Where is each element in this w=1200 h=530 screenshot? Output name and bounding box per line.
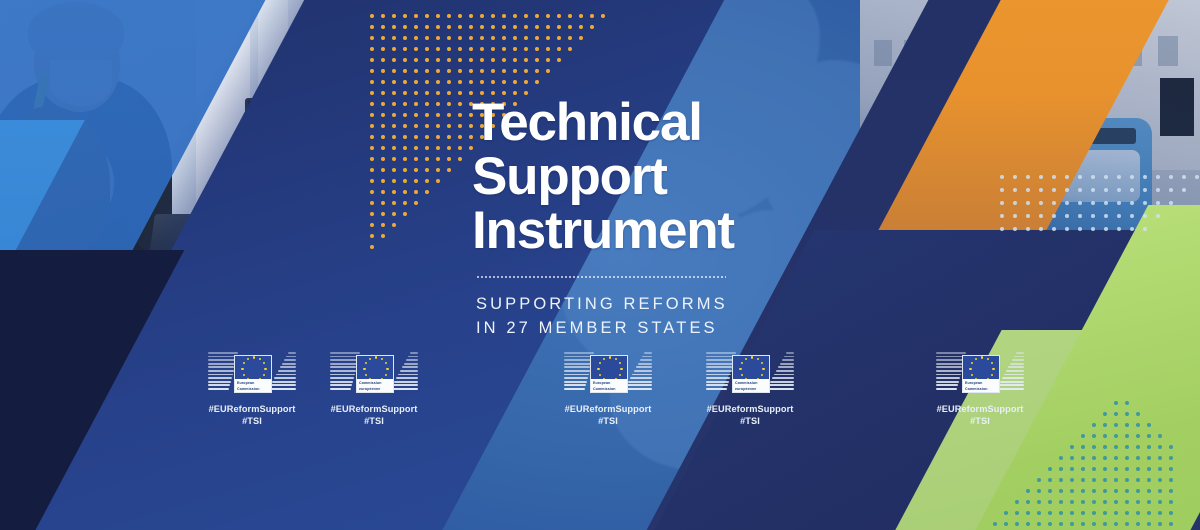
decorative-dot xyxy=(1158,456,1162,460)
decorative-dot xyxy=(381,113,385,117)
sail-line xyxy=(564,381,587,383)
decorative-dot xyxy=(1015,522,1019,526)
decorative-dot xyxy=(403,146,407,150)
ec-logo-lockup-1[interactable]: EuropeanCommission#EUReformSupport#TSI xyxy=(187,352,317,427)
sail-line xyxy=(706,374,731,376)
eu-star xyxy=(263,374,265,376)
decorative-dot xyxy=(535,80,539,84)
eu-star xyxy=(247,358,249,360)
sail-line xyxy=(564,352,594,354)
sail-line xyxy=(330,370,356,372)
sail-line xyxy=(770,381,794,383)
ec-wordmark-line-2: européenne xyxy=(359,386,391,392)
decorative-dot xyxy=(1182,188,1186,192)
decorative-dot xyxy=(491,58,495,62)
decorative-dot xyxy=(491,47,495,51)
decorative-dot xyxy=(458,69,462,73)
decorative-dot xyxy=(513,58,517,62)
hashtag-primary: #EUReformSupport xyxy=(543,403,673,415)
hashtag-block: #EUReformSupport#TSI xyxy=(309,403,439,427)
decorative-dot xyxy=(370,212,374,216)
decorative-dot xyxy=(1039,175,1043,179)
decorative-dot xyxy=(1136,423,1140,427)
sail-line xyxy=(778,366,794,368)
sail-line xyxy=(774,374,794,376)
sail-line xyxy=(330,356,359,358)
decorative-dot xyxy=(1158,522,1162,526)
decorative-dot xyxy=(425,91,429,95)
decorative-dot xyxy=(1136,478,1140,482)
decorative-dot xyxy=(1114,522,1118,526)
decorative-dot xyxy=(425,14,429,18)
decorative-dot xyxy=(568,14,572,18)
sail-line xyxy=(706,384,728,386)
decorative-dot xyxy=(1026,522,1030,526)
sail-line xyxy=(208,381,231,383)
decorative-dot xyxy=(381,201,385,205)
eu-star xyxy=(620,368,622,370)
decorative-dot xyxy=(546,47,550,51)
sail-line xyxy=(330,359,358,361)
decorative-dot xyxy=(370,80,374,84)
decorative-dot xyxy=(381,91,385,95)
decorative-dot xyxy=(458,36,462,40)
decorative-dot xyxy=(1052,175,1056,179)
sail-line xyxy=(636,366,652,368)
decorative-dot xyxy=(579,14,583,18)
decorative-dot xyxy=(1136,434,1140,438)
decorative-dot xyxy=(436,69,440,73)
decorative-dot xyxy=(480,58,484,62)
sail-line xyxy=(564,384,586,386)
sail-line xyxy=(706,381,729,383)
hashtag-primary: #EUReformSupport xyxy=(309,403,439,415)
eu-star xyxy=(757,358,759,360)
decorative-dot xyxy=(1059,500,1063,504)
decorative-dot xyxy=(1147,467,1151,471)
sail-line xyxy=(330,384,352,386)
decorative-dot xyxy=(524,36,528,40)
decorative-dot xyxy=(447,157,451,161)
sail-line xyxy=(706,370,732,372)
decorative-dot xyxy=(502,58,506,62)
decorative-dot xyxy=(392,157,396,161)
decorative-dot xyxy=(425,58,429,62)
sail-line xyxy=(330,381,353,383)
decorative-dot xyxy=(403,69,407,73)
decorative-dot xyxy=(469,36,473,40)
sail-line xyxy=(208,374,233,376)
decorative-dot xyxy=(1013,227,1017,231)
sail-line xyxy=(394,381,418,383)
decorative-dot xyxy=(414,25,418,29)
decorative-dot xyxy=(480,25,484,29)
eu-star xyxy=(615,358,617,360)
decorative-dot xyxy=(370,146,374,150)
decorative-dot xyxy=(447,113,451,117)
decorative-dot xyxy=(381,69,385,73)
decorative-dot xyxy=(1081,511,1085,515)
decorative-dot xyxy=(436,168,440,172)
decorative-dot xyxy=(425,25,429,29)
decorative-dot xyxy=(480,80,484,84)
sail-line xyxy=(706,356,735,358)
decorative-dot xyxy=(436,47,440,51)
eu-star xyxy=(619,374,621,376)
decorative-dot xyxy=(546,14,550,18)
decorative-dot xyxy=(1092,467,1096,471)
eu-star xyxy=(739,368,741,370)
decorative-dot xyxy=(1048,467,1052,471)
eu-star xyxy=(597,368,599,370)
decorative-dot xyxy=(436,25,440,29)
decorative-dot xyxy=(370,91,374,95)
decorative-dot xyxy=(1037,500,1041,504)
decorative-dot xyxy=(381,179,385,183)
decorative-dot xyxy=(1070,467,1074,471)
decorative-dot xyxy=(1081,522,1085,526)
decorative-dot xyxy=(1114,445,1118,449)
sail-line xyxy=(564,370,590,372)
decorative-dot xyxy=(1136,445,1140,449)
eu-star xyxy=(971,362,973,364)
decorative-dot xyxy=(414,36,418,40)
decorative-dot xyxy=(513,36,517,40)
decorative-dot xyxy=(1081,434,1085,438)
decorative-dot xyxy=(1015,511,1019,515)
sail-line xyxy=(644,352,652,354)
decorative-dot xyxy=(1092,478,1096,482)
decorative-dot xyxy=(447,36,451,40)
decorative-dot xyxy=(1125,423,1129,427)
decorative-dot xyxy=(1104,227,1108,231)
decorative-dot xyxy=(392,58,396,62)
decorative-dot xyxy=(1125,456,1129,460)
sail-line xyxy=(208,359,236,361)
decorative-dot xyxy=(425,146,429,150)
decorative-dot xyxy=(403,179,407,183)
decorative-dot xyxy=(1092,434,1096,438)
decorative-dot xyxy=(425,124,429,128)
decorative-dot xyxy=(1104,214,1108,218)
decorative-dot xyxy=(1125,522,1129,526)
sail-line xyxy=(398,374,418,376)
sail-line xyxy=(1006,370,1024,372)
decorative-dot xyxy=(1078,214,1082,218)
decorative-dot xyxy=(1114,467,1118,471)
decorative-dot xyxy=(458,58,462,62)
sail-line xyxy=(1008,366,1024,368)
decorative-dot xyxy=(370,223,374,227)
hashtag-secondary: #TSI xyxy=(685,415,815,427)
decorative-dot xyxy=(414,91,418,95)
decorative-dot xyxy=(1000,227,1004,231)
decorative-dot xyxy=(370,14,374,18)
eu-star xyxy=(751,356,753,358)
decorative-dot xyxy=(1015,500,1019,504)
eu-star xyxy=(619,362,621,364)
decorative-dot xyxy=(458,25,462,29)
sail-line xyxy=(936,374,961,376)
decorative-dot xyxy=(524,80,528,84)
decorative-dot xyxy=(447,14,451,18)
decorative-dot xyxy=(1169,522,1173,526)
sail-line xyxy=(404,363,418,365)
decorative-dot xyxy=(370,201,374,205)
decorative-dot xyxy=(381,47,385,51)
decorative-dot xyxy=(392,212,396,216)
european-commission-logo-icon: EuropeanCommission xyxy=(208,352,296,396)
decorative-dot xyxy=(1026,227,1030,231)
decorative-dot xyxy=(1103,478,1107,482)
decorative-dot xyxy=(535,25,539,29)
sail-line xyxy=(208,352,238,354)
decorative-dot xyxy=(1169,201,1173,205)
sail-line xyxy=(638,363,652,365)
sail-line xyxy=(564,377,588,379)
decorative-dot xyxy=(458,14,462,18)
decorative-dot xyxy=(546,36,550,40)
decorative-dot xyxy=(425,80,429,84)
decorative-dot xyxy=(568,36,572,40)
sail-line xyxy=(776,370,794,372)
sail-line xyxy=(410,352,418,354)
decorative-dot xyxy=(1125,401,1129,405)
decorative-dot xyxy=(370,245,374,249)
eu-star xyxy=(243,362,245,364)
european-commission-logo-icon: EuropeanCommission xyxy=(936,352,1024,396)
decorative-dot xyxy=(458,91,462,95)
decorative-dot xyxy=(392,25,396,29)
decorative-dot xyxy=(403,47,407,51)
decorative-dot xyxy=(1182,175,1186,179)
sail-line xyxy=(1010,363,1024,365)
hashtag-block: #EUReformSupport#TSI xyxy=(685,403,815,427)
decorative-dot xyxy=(1091,227,1095,231)
sail-line xyxy=(396,377,418,379)
decorative-dot xyxy=(1078,201,1082,205)
decorative-dot xyxy=(436,80,440,84)
decorative-dot xyxy=(1125,412,1129,416)
decorative-dot xyxy=(436,113,440,117)
decorative-dot xyxy=(392,223,396,227)
eu-star xyxy=(386,368,388,370)
decorative-dot xyxy=(1169,188,1173,192)
decorative-dot xyxy=(381,157,385,161)
decorative-dot xyxy=(392,146,396,150)
decorative-dot xyxy=(1004,511,1008,515)
decorative-dot xyxy=(1037,511,1041,515)
sail-line xyxy=(936,381,959,383)
decorative-dot xyxy=(1013,175,1017,179)
ec-wordmark-line-2: européenne xyxy=(735,386,767,392)
decorative-dot xyxy=(1026,201,1030,205)
decorative-dot xyxy=(458,124,462,128)
sail-line xyxy=(280,366,296,368)
hashtag-secondary: #TSI xyxy=(915,415,1045,427)
decorative-dot xyxy=(535,36,539,40)
decorative-dot xyxy=(1147,456,1151,460)
subtitle-line-1: SUPPORTING REFORMS xyxy=(476,292,912,316)
decorative-dot xyxy=(458,102,462,106)
decorative-dot xyxy=(1130,188,1134,192)
decorative-dot xyxy=(414,135,418,139)
decorative-dot xyxy=(436,157,440,161)
eu-star xyxy=(741,362,743,364)
decorative-dot xyxy=(414,124,418,128)
sail-line xyxy=(630,377,652,379)
sail-line xyxy=(642,356,652,358)
ec-logo-lockup-4[interactable]: Commissioneuropéenne#EUReformSupport#TSI xyxy=(685,352,815,427)
decorative-dot xyxy=(1070,511,1074,515)
decorative-dot xyxy=(513,14,517,18)
eu-star xyxy=(599,374,601,376)
decorative-dot xyxy=(1130,227,1134,231)
decorative-dot xyxy=(425,69,429,73)
decorative-dot xyxy=(1070,522,1074,526)
decorative-dot xyxy=(370,168,374,172)
decorative-dot xyxy=(447,25,451,29)
ec-wordmark-line-2: Commission xyxy=(965,386,997,392)
decorative-dot xyxy=(370,179,374,183)
decorative-dot xyxy=(546,25,550,29)
eu-star xyxy=(264,368,266,370)
ec-logo-lockup-5[interactable]: EuropeanCommission#EUReformSupport#TSI xyxy=(915,352,1045,427)
decorative-dot xyxy=(513,69,517,73)
decorative-dot xyxy=(1169,500,1173,504)
decorative-dot xyxy=(1048,522,1052,526)
decorative-dot xyxy=(447,47,451,51)
ec-wordmark-line-2: Commission xyxy=(593,386,625,392)
decorative-dot xyxy=(1103,489,1107,493)
decorative-dot xyxy=(414,201,418,205)
decorative-dot xyxy=(392,69,396,73)
decorative-dot xyxy=(1081,489,1085,493)
decorative-dot xyxy=(1065,227,1069,231)
hashtag-secondary: #TSI xyxy=(543,415,673,427)
sail-line xyxy=(780,363,794,365)
decorative-dot xyxy=(535,58,539,62)
decorative-dot xyxy=(381,168,385,172)
decorative-dot xyxy=(381,124,385,128)
decorative-dot xyxy=(447,58,451,62)
decorative-dot xyxy=(1048,489,1052,493)
decorative-dot xyxy=(1059,456,1063,460)
decorative-dot xyxy=(425,113,429,117)
sail-line xyxy=(632,374,652,376)
decorative-dot xyxy=(1081,467,1085,471)
decorative-dot xyxy=(1091,175,1095,179)
decorative-dot xyxy=(436,91,440,95)
decorative-dot xyxy=(403,201,407,205)
decorative-dot xyxy=(469,69,473,73)
hashtag-secondary: #TSI xyxy=(309,415,439,427)
sail-line xyxy=(564,366,590,368)
eu-star xyxy=(745,358,747,360)
sail-line xyxy=(936,352,966,354)
decorative-dot xyxy=(1169,445,1173,449)
decorative-dot xyxy=(1114,401,1118,405)
decorative-dot xyxy=(1117,175,1121,179)
decorative-dot xyxy=(1065,175,1069,179)
decorative-dot xyxy=(1143,227,1147,231)
decorative-dot xyxy=(1037,489,1041,493)
decorative-dot xyxy=(414,146,418,150)
sail-line xyxy=(208,377,232,379)
decorative-dot xyxy=(1125,489,1129,493)
headline-block: Technical Support Instrument SUPPORTING … xyxy=(472,96,912,340)
decorative-dot xyxy=(502,25,506,29)
decorative-dot xyxy=(502,14,506,18)
decorative-dot xyxy=(436,36,440,40)
hashtag-block: #EUReformSupport#TSI xyxy=(915,403,1045,427)
eu-star xyxy=(381,358,383,360)
sail-line xyxy=(276,374,296,376)
eu-star xyxy=(263,362,265,364)
dotted-divider xyxy=(476,276,726,278)
decorative-dot xyxy=(403,80,407,84)
ec-logo-wordmark: Commissioneuropéenne xyxy=(733,379,769,392)
decorative-dot xyxy=(1125,511,1129,515)
decorative-dot xyxy=(414,69,418,73)
decorative-dot xyxy=(1013,214,1017,218)
sail-line xyxy=(1012,359,1024,361)
ec-logo-lockup-2[interactable]: Commissioneuropéenne#EUReformSupport#TSI xyxy=(309,352,439,427)
decorative-dot xyxy=(557,25,561,29)
ec-logo-wordmark: EuropeanCommission xyxy=(235,379,271,392)
decorative-dot xyxy=(1000,201,1004,205)
decorative-dot xyxy=(436,124,440,128)
decorative-dot xyxy=(414,157,418,161)
ec-logo-wordmark: Commissioneuropéenne xyxy=(357,379,393,392)
decorative-dot xyxy=(425,102,429,106)
decorative-dot xyxy=(1147,423,1151,427)
decorative-dot xyxy=(568,47,572,51)
decorative-dot xyxy=(1158,511,1162,515)
decorative-dot xyxy=(436,135,440,139)
decorative-dot xyxy=(1147,511,1151,515)
decorative-dot xyxy=(392,14,396,18)
decorative-dot xyxy=(535,69,539,73)
decorative-dot xyxy=(1103,456,1107,460)
decorative-dot xyxy=(524,47,528,51)
ec-logo-lockup-3[interactable]: EuropeanCommission#EUReformSupport#TSI xyxy=(543,352,673,427)
eu-star xyxy=(241,368,243,370)
sail-line xyxy=(782,359,794,361)
decorative-dot xyxy=(1158,434,1162,438)
sail-line xyxy=(706,377,730,379)
decorative-dot xyxy=(1147,445,1151,449)
ec-logo-wordmark: EuropeanCommission xyxy=(963,379,999,392)
decorative-dot xyxy=(1052,214,1056,218)
decorative-dot xyxy=(1114,478,1118,482)
decorative-dot xyxy=(1125,478,1129,482)
decorative-dot xyxy=(1143,214,1147,218)
decorative-dot xyxy=(1156,201,1160,205)
decorative-dot xyxy=(469,14,473,18)
decorative-dot xyxy=(392,135,396,139)
sail-line xyxy=(564,374,589,376)
sail-line xyxy=(996,388,1024,390)
decorative-dot xyxy=(381,14,385,18)
sail-line xyxy=(634,370,652,372)
decorative-dot xyxy=(557,36,561,40)
decorative-dot xyxy=(491,25,495,29)
decorative-dot xyxy=(1000,188,1004,192)
hashtag-primary: #EUReformSupport xyxy=(685,403,815,415)
decorative-dot xyxy=(1048,500,1052,504)
european-commission-logo-icon: EuropeanCommission xyxy=(564,352,652,396)
